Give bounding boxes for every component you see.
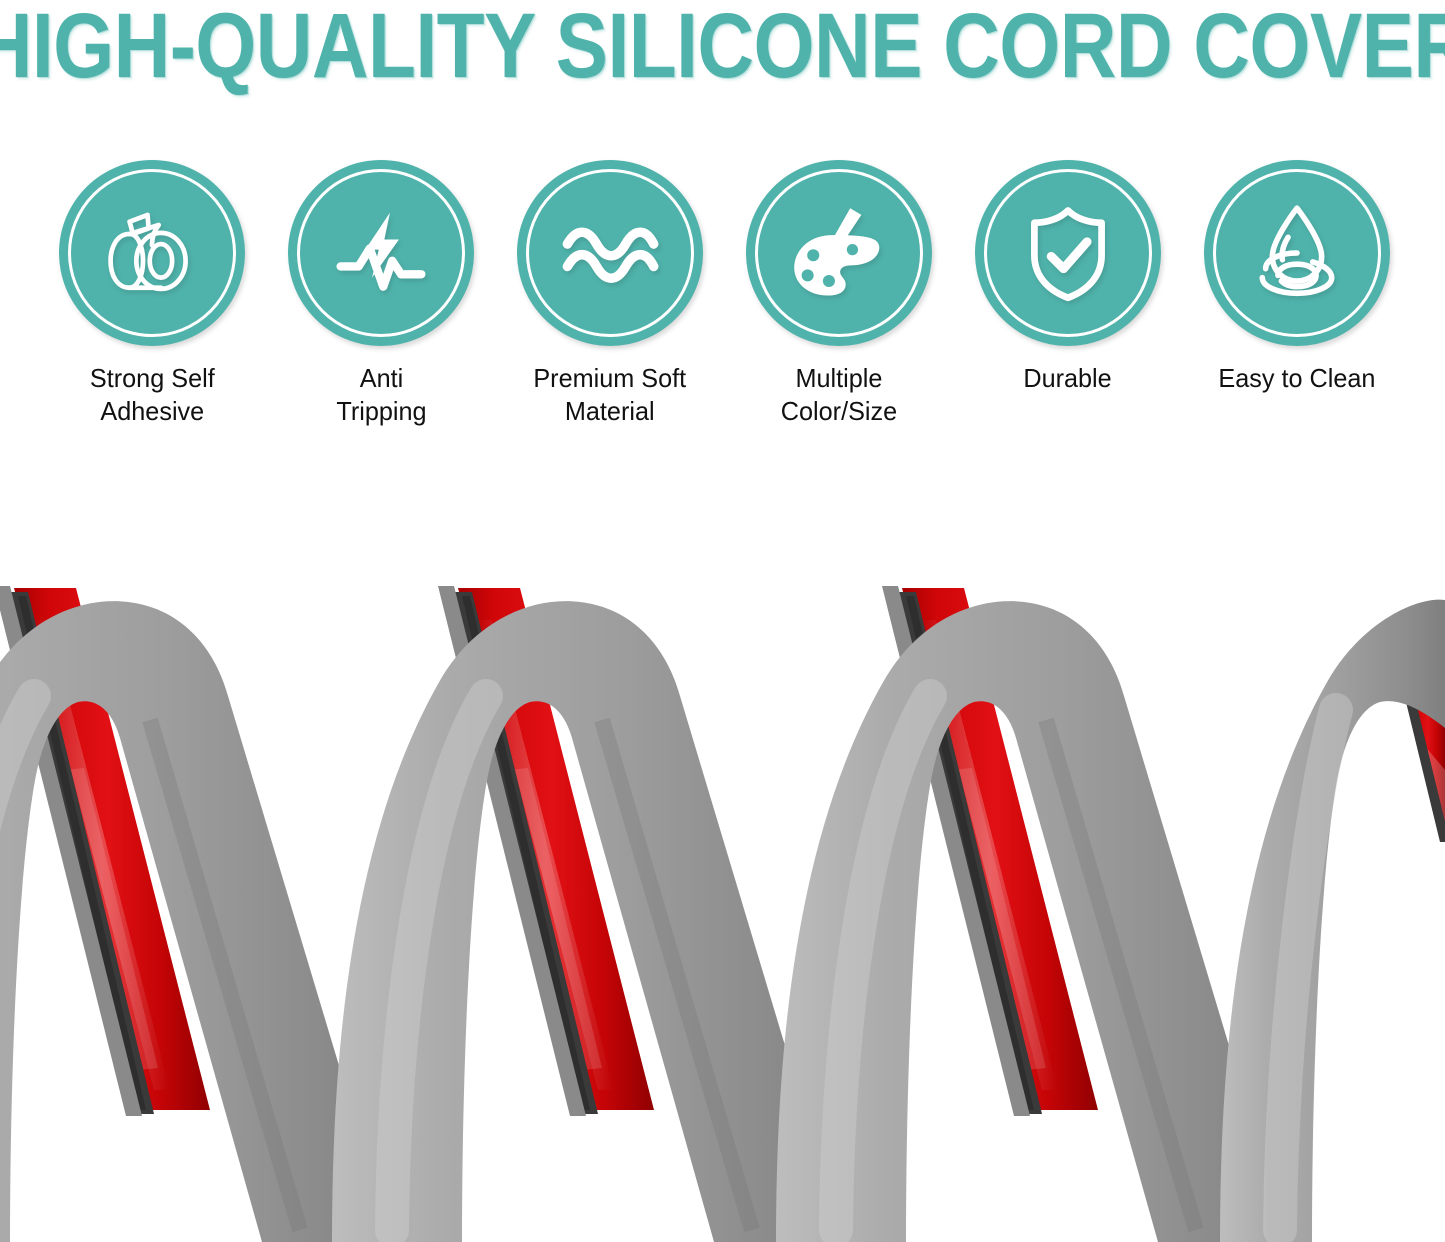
- feature-item-strong-self-adhesive: Strong Self Adhesive: [52, 160, 252, 428]
- feature-icon-badge: [59, 160, 245, 346]
- feature-label: Durable: [1024, 362, 1112, 395]
- feature-label: Multiple Color/Size: [781, 362, 897, 428]
- header-banner: HIGH-QUALITY SILICONE CORD COVER: [0, 0, 1445, 92]
- page-title: HIGH-QUALITY SILICONE CORD COVER: [0, 0, 1445, 93]
- feature-label: Easy to Clean: [1218, 362, 1375, 395]
- feature-icon-badge: [1204, 160, 1390, 346]
- feature-item-anti-tripping: Anti Tripping: [281, 160, 481, 428]
- feature-icon-badge: [975, 160, 1161, 346]
- water-droplet-ripple-icon: [1241, 197, 1353, 309]
- feature-highlights-row: Strong Self Adhesive Anti Tripping Premi…: [52, 160, 1397, 420]
- spiral-cord-cover-illustration: [0, 470, 1445, 1242]
- feature-label: Premium Soft Material: [534, 362, 687, 428]
- feature-icon-badge: [288, 160, 474, 346]
- product-image-silicone-cord-cover: [0, 470, 1445, 1242]
- paint-palette-brush-icon: [783, 197, 895, 309]
- wavy-lines-icon: [554, 197, 666, 309]
- feature-item-premium-soft-material: Premium Soft Material: [510, 160, 710, 428]
- feature-label: Anti Tripping: [336, 362, 426, 428]
- shield-check-icon: [1012, 197, 1124, 309]
- feature-item-easy-to-clean: Easy to Clean: [1197, 160, 1397, 395]
- feature-item-durable: Durable: [968, 160, 1168, 395]
- feature-label: Strong Self Adhesive: [90, 362, 215, 428]
- adhesive-tape-roll-icon: [96, 197, 208, 309]
- feature-item-multiple-color-size: Multiple Color/Size: [739, 160, 939, 428]
- lightning-bolt-pulse-icon: [325, 197, 437, 309]
- feature-icon-badge: [517, 160, 703, 346]
- feature-icon-badge: [746, 160, 932, 346]
